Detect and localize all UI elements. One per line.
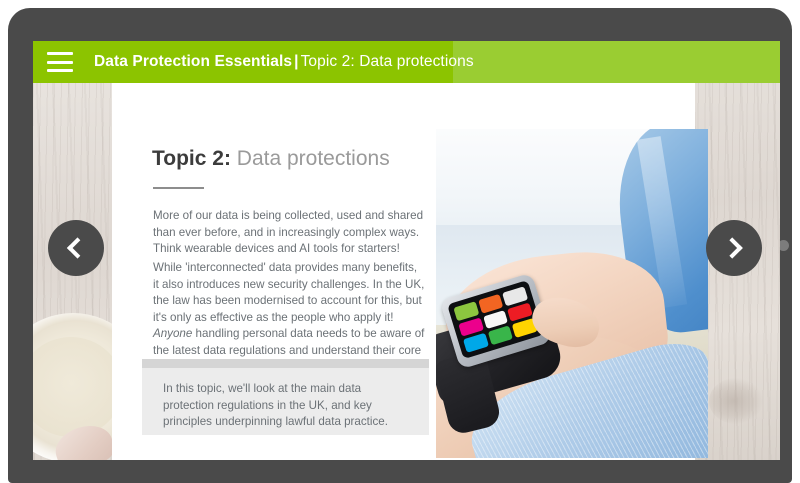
topic-title: Topic 2: Data protections xyxy=(301,53,474,70)
callout-top-bar xyxy=(142,359,429,368)
topic-callout-box: In this topic, we'll look at the main da… xyxy=(142,359,429,435)
person-checking-smartwatch-photo xyxy=(436,129,708,458)
paragraph-2-emphasis: Anyone xyxy=(153,327,192,340)
menu-line-3 xyxy=(47,69,73,72)
next-slide-button[interactable] xyxy=(706,220,762,276)
tablet-device-frame: Data Protection Essentials|Topic 2: Data… xyxy=(8,8,792,483)
app-header-bar: Data Protection Essentials|Topic 2: Data… xyxy=(33,41,780,83)
body-paragraph-1: More of our data is being collected, use… xyxy=(153,208,425,258)
title-separator: | xyxy=(292,53,300,70)
course-title: Data Protection Essentials xyxy=(94,53,292,70)
page-title: Topic 2: Data protections xyxy=(152,147,390,171)
header-title: Data Protection Essentials|Topic 2: Data… xyxy=(94,53,474,71)
chevron-right-icon xyxy=(722,237,743,258)
watch-app-7 xyxy=(463,333,489,353)
page-title-label: Topic 2: xyxy=(152,147,231,170)
wood-knot xyxy=(709,378,763,424)
callout-text: In this topic, we'll look at the main da… xyxy=(163,381,393,431)
chevron-left-icon xyxy=(67,237,88,258)
watch-app-8 xyxy=(488,326,514,346)
tablet-screen: Data Protection Essentials|Topic 2: Data… xyxy=(33,41,780,460)
title-underline-rule xyxy=(153,187,204,189)
menu-line-1 xyxy=(47,52,73,55)
slide-content-panel: Topic 2: Data protections More of our da… xyxy=(112,83,695,460)
paragraph-2-lead: While 'interconnected' data provides man… xyxy=(153,261,424,324)
previous-slide-button[interactable] xyxy=(48,220,104,276)
hamburger-menu-icon[interactable] xyxy=(47,52,73,72)
page-title-rest: Data protections xyxy=(231,147,390,170)
menu-line-2 xyxy=(47,61,73,64)
